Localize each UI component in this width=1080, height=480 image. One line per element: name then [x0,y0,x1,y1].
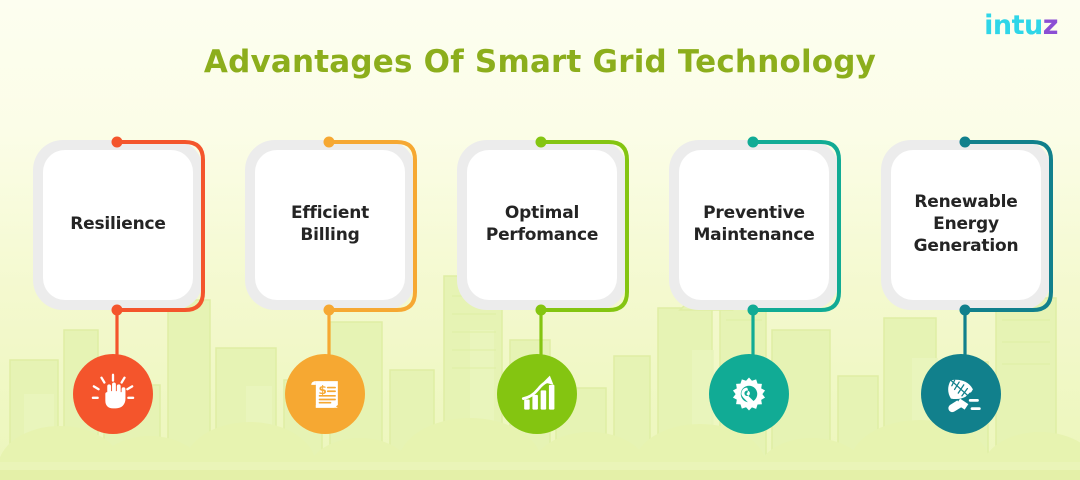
card-face: Optimal Perfomance [467,150,617,300]
card-optimal-performance[interactable]: Optimal Perfomance [457,140,627,310]
card-face: Preventive Maintenance [679,150,829,300]
invoice-receipt-icon: $ [303,372,347,416]
icon-bubble[interactable] [73,354,153,434]
card-resilience[interactable]: Resilience [33,140,203,310]
icon-bubble[interactable]: $ [285,354,365,434]
card-face: Efficient Billing [255,150,405,300]
page-title: Advantages Of Smart Grid Technology [0,44,1080,80]
svg-text:$: $ [319,383,327,397]
advantage-item-preventive-maintenance[interactable]: Preventive Maintenance [669,132,851,452]
advantage-item-optimal-performance[interactable]: Optimal Perfomance [457,132,639,452]
gear-wrench-icon [727,372,771,416]
advantage-item-renewable-energy[interactable]: Renewable Energy Generation [881,132,1063,452]
icon-bubble[interactable] [921,354,1001,434]
card-efficient-billing[interactable]: Efficient Billing [245,140,415,310]
intuz-logo: intuz [984,12,1058,39]
card-face: Resilience [43,150,193,300]
card-label: Optimal Perfomance [477,203,607,247]
card-label: Efficient Billing [265,203,395,247]
leaf-plug-icon [939,372,983,416]
card-renewable-energy[interactable]: Renewable Energy Generation [881,140,1051,310]
growth-bar-chart-icon [515,372,559,416]
card-label: Preventive Maintenance [689,203,819,247]
advantages-row: Resilience [0,132,1080,452]
advantage-item-resilience[interactable]: Resilience [33,132,215,452]
raised-fist-icon [90,371,136,417]
card-label: Renewable Energy Generation [901,192,1031,257]
card-label: Resilience [70,214,165,236]
icon-bubble[interactable] [497,354,577,434]
logo-text: intu [984,10,1043,41]
icon-bubble[interactable] [709,354,789,434]
card-preventive-maintenance[interactable]: Preventive Maintenance [669,140,839,310]
card-face: Renewable Energy Generation [891,150,1041,300]
advantage-item-efficient-billing[interactable]: Efficient Billing [245,132,427,452]
infographic-canvas: intuz Advantages Of Smart Grid Technolog… [0,0,1080,480]
logo-accent-letter: z [1043,10,1058,41]
